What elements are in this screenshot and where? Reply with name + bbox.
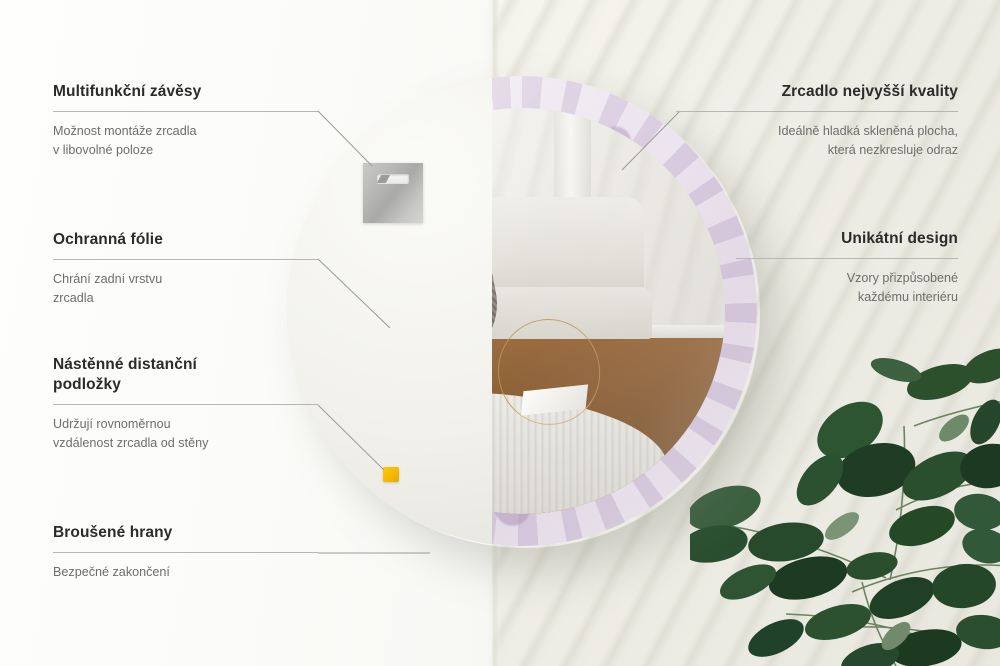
- callout-title: Multifunkční závěsy: [53, 82, 318, 102]
- callout-rule: [53, 259, 318, 260]
- callout-rule: [53, 404, 318, 405]
- callout-body: Ideálně hladká skleněná plocha, která ne…: [676, 122, 958, 159]
- callout-unikatni-design: Unikátní design Vzory přizpůsobené každé…: [736, 229, 958, 306]
- callout-rule: [676, 111, 958, 112]
- callout-title: Zrcadlo nejvyšší kvality: [676, 82, 958, 102]
- leader-line-multifunkcni-zavesy: [318, 111, 372, 166]
- callout-title: Nástěnné distanční podložky: [53, 355, 318, 395]
- callout-body: Chrání zadní vrstvu zrcadla: [53, 270, 318, 307]
- callout-title: Ochranná fólie: [53, 230, 318, 250]
- leader-line-podlozky: [318, 405, 384, 470]
- callout-rule: [53, 111, 318, 112]
- callout-body: Bezpečné zakončení: [53, 563, 318, 582]
- callout-title: Unikátní design: [736, 229, 958, 249]
- leader-line-zrcadlo-kvality: [622, 111, 680, 170]
- callout-title: Broušené hrany: [53, 523, 318, 543]
- leader-line-ochranna-folie: [318, 259, 390, 328]
- callout-rule: [736, 258, 958, 259]
- callout-nastenne-distancni-podlozky: Nástěnné distanční podložky Udržují rovn…: [53, 355, 318, 453]
- callout-body: Vzory přizpůsobené každému interiéru: [736, 269, 958, 306]
- callout-ochranna-folie: Ochranná fólie Chrání zadní vrstvu zrcad…: [53, 230, 318, 307]
- callout-multifunkcni-zavesy: Multifunkční závěsy Možnost montáže zrca…: [53, 82, 318, 159]
- callout-zrcadlo-nejvyssi-kvality: Zrcadlo nejvyšší kvality Ideálně hladká …: [676, 82, 958, 159]
- infographic-canvas: Multifunkční závěsy Možnost montáže zrca…: [0, 0, 1000, 666]
- callout-body: Udržují rovnoměrnou vzdálenost zrcadla o…: [53, 415, 318, 452]
- callout-body: Možnost montáže zrcadla v libovolné polo…: [53, 122, 318, 159]
- callout-rule: [53, 552, 318, 553]
- callout-brousene-hrany: Broušené hrany Bezpečné zakončení: [53, 523, 318, 582]
